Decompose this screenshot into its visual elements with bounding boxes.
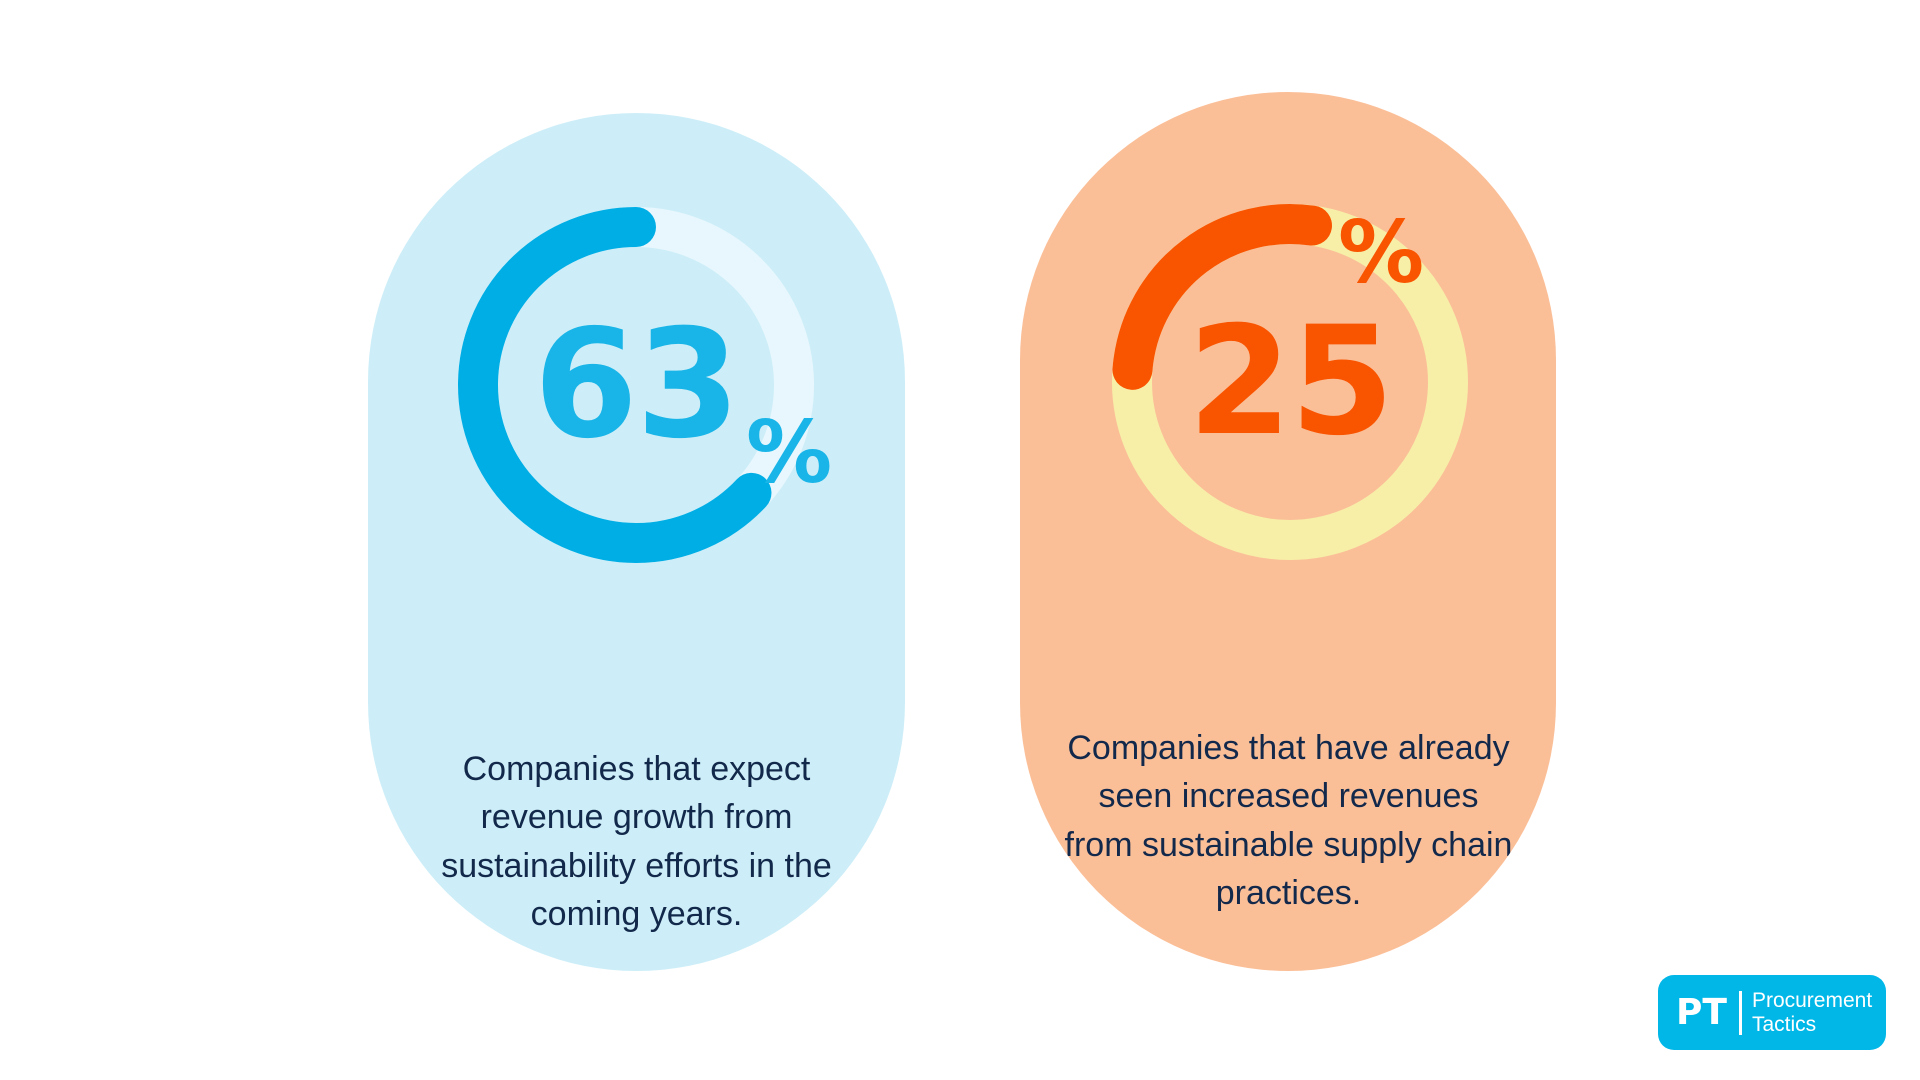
logo-word-line-1: Procurement [1752,989,1872,1013]
infographic-canvas: 63 % Companies that expect revenue growt… [0,0,1920,1080]
donut-chart-blue: 63 % [446,195,826,575]
stat-card-orange: 25 % Companies that have already seen in… [1020,92,1556,971]
logo-divider-icon [1739,991,1742,1035]
stat-percent-blue: % [746,410,832,496]
stat-card-blue: 63 % Companies that expect revenue growt… [368,113,905,971]
logo-word-line-2: Tactics [1752,1013,1872,1037]
donut-chart-orange: 25 % [1100,192,1480,572]
logo-wordmark: Procurement Tactics [1752,989,1872,1036]
procurement-tactics-logo[interactable]: PT Procurement Tactics [1658,975,1886,1050]
stat-caption-blue: Companies that expect revenue growth fro… [408,745,865,938]
stat-caption-orange: Companies that have already seen increas… [1060,724,1517,917]
stat-value-blue: 63 [446,195,826,575]
logo-monogram: PT [1676,995,1727,1031]
stat-percent-orange: % [1338,210,1424,296]
